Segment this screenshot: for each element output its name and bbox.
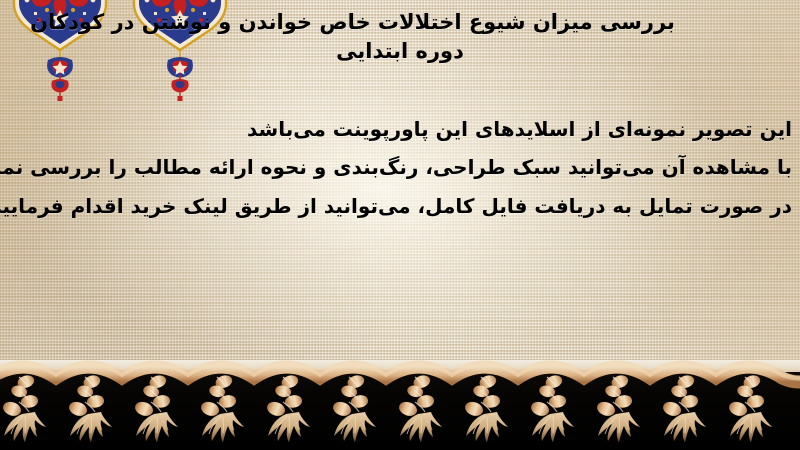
slide-preview: بررسی میزان شیوع اختلالات خاص خواندن و ن… — [0, 0, 800, 450]
slide-body-line-1: این تصویر نمونه‌ای از اسلایدهای این پاور… — [8, 110, 792, 148]
slide-title-line-1: بررسی میزان شیوع اختلالات خاص خواندن و ن… — [0, 8, 800, 37]
carpet-fringe-border — [0, 360, 800, 450]
slide-title-line-2: دوره ابتدایی — [0, 37, 800, 66]
slide-body-line-3: در صورت تمایل به دریافت فایل کامل، می‌تو… — [8, 187, 792, 225]
slide-body: این تصویر نمونه‌ای از اسلایدهای این پاور… — [8, 110, 792, 225]
slide-body-line-2: با مشاهده آن می‌توانید سبک طراحی، رنگ‌بن… — [8, 148, 792, 186]
slide-title: بررسی میزان شیوع اختلالات خاص خواندن و ن… — [0, 8, 800, 66]
